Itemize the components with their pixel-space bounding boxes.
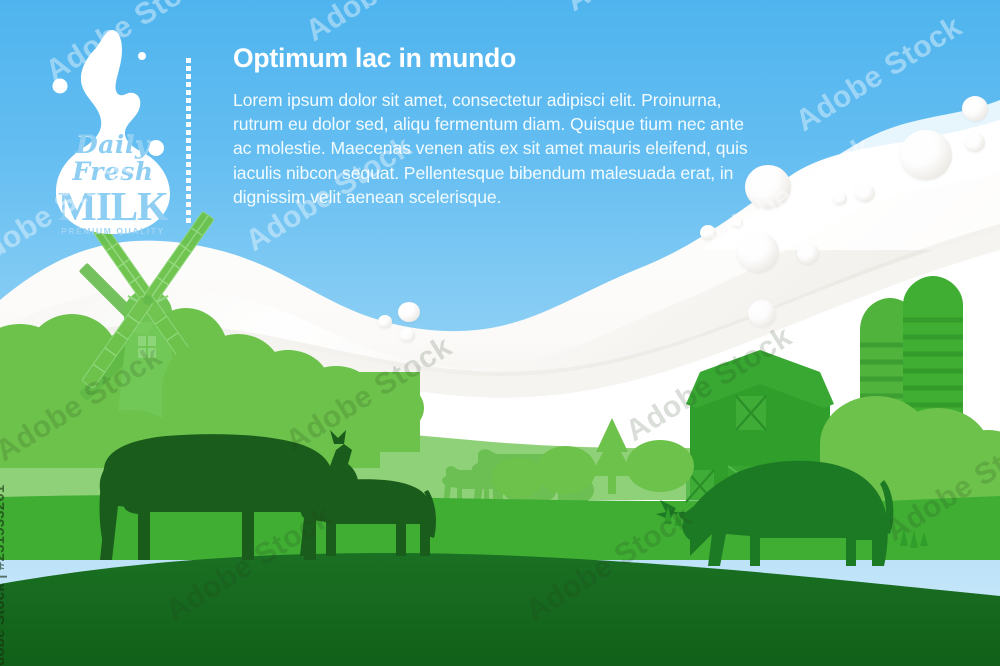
logo-milk-splash: Daily Fresh MILK PREMIUM QUALITY [38, 28, 188, 238]
logo-splash-shape [38, 28, 188, 238]
dotted-divider [186, 58, 194, 218]
illustration-canvas: Daily Fresh MILK PREMIUM QUALITY Optimum… [0, 0, 1000, 666]
body-text: Lorem ipsum dolor sit amet, consectetur … [233, 88, 763, 209]
page-title: Optimum lac in mundo [233, 44, 853, 73]
foreground-hill [0, 553, 1000, 666]
